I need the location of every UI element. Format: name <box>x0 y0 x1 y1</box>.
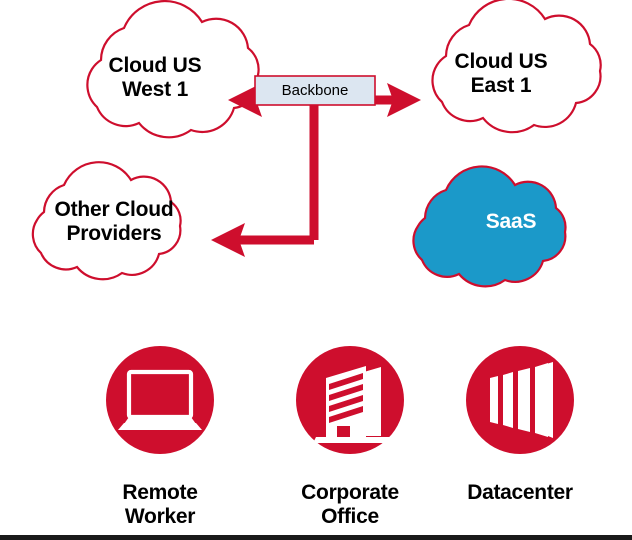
cloud-us-west-1-shape <box>87 1 258 137</box>
network-diagram-canvas: Cloud US West 1 Cloud US East 1 Other Cl… <box>0 0 632 540</box>
cloud-us-east-1[interactable] <box>432 0 600 132</box>
saas-cloud[interactable] <box>413 166 565 286</box>
other-cloud-providers-shape <box>33 162 181 279</box>
backbone-connector[interactable] <box>211 76 421 257</box>
backbone-label-box <box>255 76 375 105</box>
cloud-us-west-1[interactable] <box>87 1 258 137</box>
diagram-vector-layer <box>0 0 632 540</box>
remote-worker-badge[interactable] <box>106 346 214 454</box>
corporate-office-badge[interactable] <box>296 346 404 454</box>
other-cloud-providers[interactable] <box>33 162 181 279</box>
cloud-us-east-1-shape <box>432 0 600 132</box>
saas-cloud-shape <box>413 166 565 286</box>
datacenter-badge[interactable] <box>466 346 574 454</box>
remote-worker-circle <box>106 346 214 454</box>
bottom-divider <box>0 535 632 540</box>
